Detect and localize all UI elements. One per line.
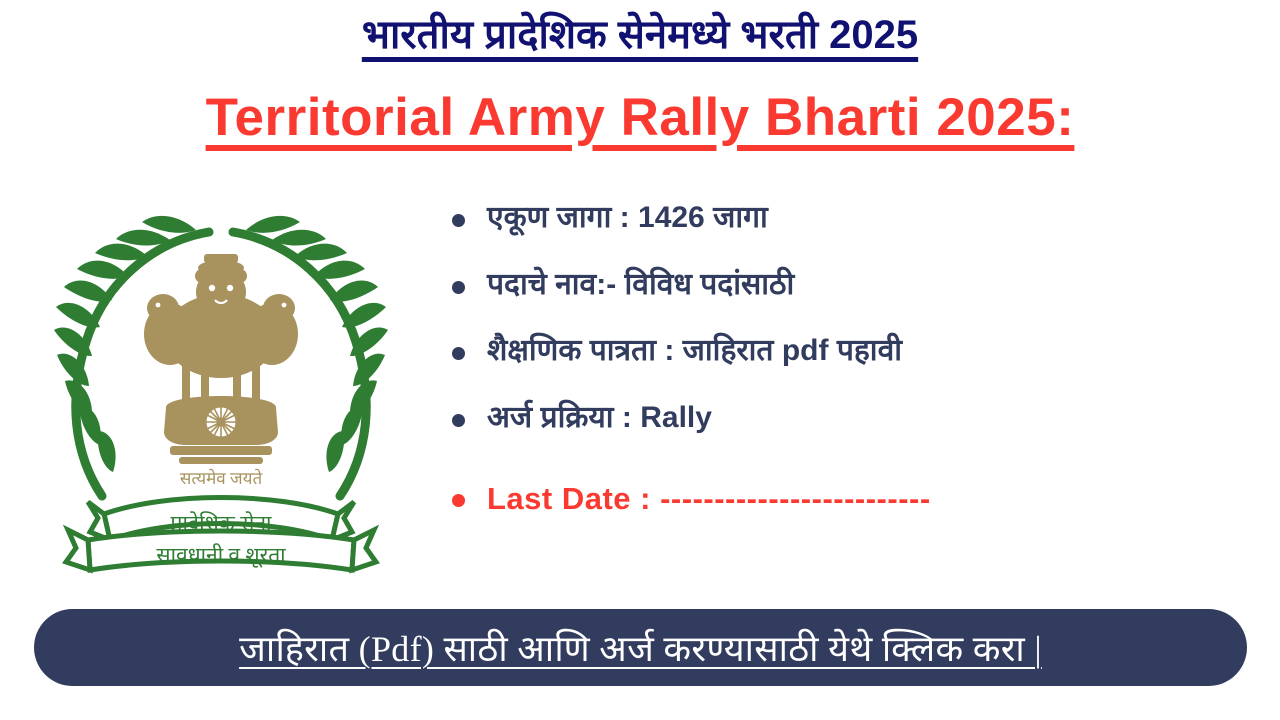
list-item: अर्ज प्रक्रिया : Rally [452,398,1252,439]
poster-canvas: भारतीय प्रादेशिक सेनेमध्ये भरती 2025 Ter… [0,0,1280,720]
territorial-army-emblem-icon: सत्यमेव जयते प्रादेशिक सेना सावधानी व शू… [46,196,396,586]
detail-total-posts: एकूण जागा : 1426 जागा [487,198,768,239]
page-title-marathi: भारतीय प्रादेशिक सेनेमध्ये भरती 2025 [362,12,918,59]
title-block: भारतीय प्रादेशिक सेनेमध्ये भरती 2025 [0,12,1280,59]
emblem-motto-text: सत्यमेव जयते [180,468,263,488]
apply-now-label: जाहिरात (Pdf) साठी आणि अर्ज करण्यासाठी य… [239,623,1042,672]
ashoka-capital-icon [144,254,298,464]
recruitment-details-list: एकूण जागा : 1426 जागा पदाचे नाव:- विविध … [452,198,1252,520]
list-item: Last Date : ------------------------- [452,478,1252,520]
list-item: शैक्षणिक पात्रता : जाहिरात pdf पहावी [452,331,1252,372]
subtitle-block: Territorial Army Rally Bharti 2025: [0,88,1280,149]
emblem-ribbon-bottom-text: सावधानी व शूरता [156,543,286,568]
detail-application-process: अर्ज प्रक्रिया : Rally [487,398,712,439]
list-item: पदाचे नाव:- विविध पदांसाठी [452,265,1252,306]
bullet-dot-icon [452,281,465,294]
page-title-english: Territorial Army Rally Bharti 2025: [206,88,1075,149]
bullet-dot-icon [452,414,465,427]
bullet-dot-icon [452,214,465,227]
bullet-dot-icon [452,347,465,360]
apply-now-button[interactable]: जाहिरात (Pdf) साठी आणि अर्ज करण्यासाठी य… [34,609,1247,686]
emblem-ribbon-group: प्रादेशिक सेना सावधानी व शूरता [66,498,376,571]
detail-education-qualification: शैक्षणिक पात्रता : जाहिरात pdf पहावी [487,331,902,372]
detail-post-name: पदाचे नाव:- विविध पदांसाठी [487,265,794,306]
bullet-dot-icon [452,494,465,507]
list-item: एकूण जागा : 1426 जागा [452,198,1252,239]
detail-last-date: Last Date : ------------------------- [487,478,931,520]
